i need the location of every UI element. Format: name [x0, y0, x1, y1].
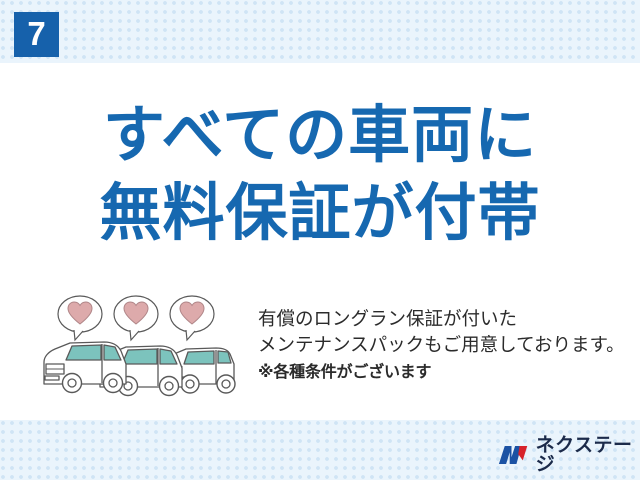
headline: すべての車両に 無料保証が付帯: [0, 96, 640, 252]
copy-line-2: メンテナンスパックもご用意しております。: [258, 333, 634, 359]
copy-note: ※各種条件がございます: [258, 359, 634, 384]
brand-logo: ネクステージ: [498, 440, 640, 470]
headline-line-2: 無料保証が付帯: [0, 174, 640, 252]
headline-line-1: すべての車両に: [0, 96, 640, 174]
top-dot-band: [0, 0, 640, 63]
nextage-n-logo-icon: [498, 443, 529, 467]
cars-illustration: [38, 292, 258, 402]
body-copy: 有償のロングラン保証が付いた メンテナンスパックもご用意しております。 ※各種条…: [258, 307, 634, 384]
badge-number-label: 7: [27, 17, 45, 50]
car-minivan: [44, 342, 126, 393]
promo-banner: 7 すべての車両に 無料保証が付帯: [0, 0, 640, 480]
number-badge: 7: [14, 12, 59, 57]
copy-line-1: 有償のロングラン保証が付いた: [258, 307, 634, 333]
brand-name-label: ネクステージ: [536, 436, 640, 474]
